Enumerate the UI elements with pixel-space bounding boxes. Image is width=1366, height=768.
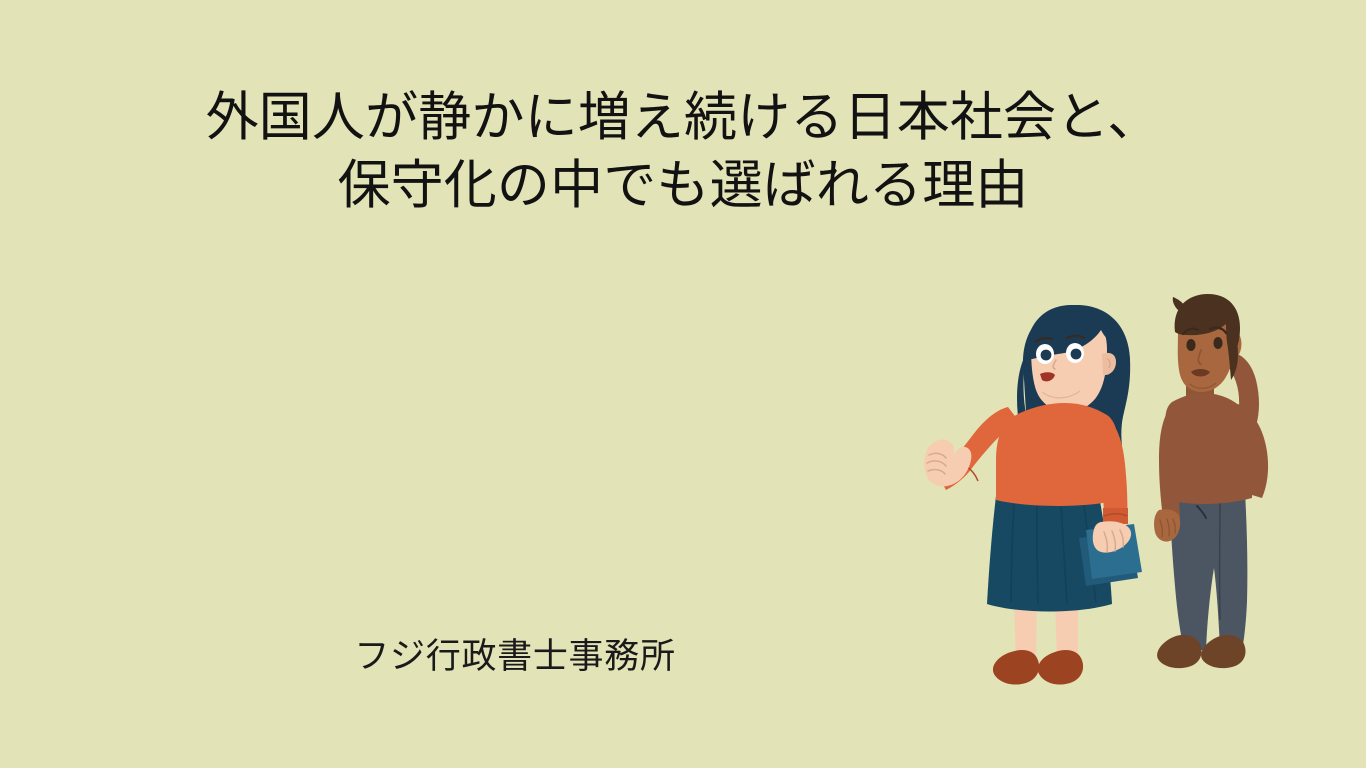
title-line-1: 外国人が静かに増え続ける日本社会と、 [0,84,1366,152]
title-line-2: 保守化の中でも選ばれる理由 [0,152,1366,220]
woman-shoe-left [993,650,1039,685]
woman-shoe-right [1038,650,1083,685]
woman-pupil-right [1071,349,1082,360]
organization-name: フジ行政書士事務所 [354,628,675,679]
two-people-illustration [890,280,1320,710]
man-shoe-left [1157,635,1201,668]
man-trousers [1170,492,1247,650]
man-figure [1154,294,1268,668]
woman-figure [924,305,1142,685]
man-shoe-right [1201,635,1245,668]
man-eye-left [1186,339,1195,351]
presentation-slide: 外国人が静かに増え続ける日本社会と、 保守化の中でも選ばれる理由 フジ行政書士事… [0,0,1366,768]
woman-pupil-left [1041,350,1052,361]
slide-footer: フジ行政書士事務所 [0,628,1030,679]
man-eye-right [1213,337,1222,349]
slide-title: 外国人が静かに増え続ける日本社会と、 保守化の中でも選ばれる理由 [0,84,1366,220]
